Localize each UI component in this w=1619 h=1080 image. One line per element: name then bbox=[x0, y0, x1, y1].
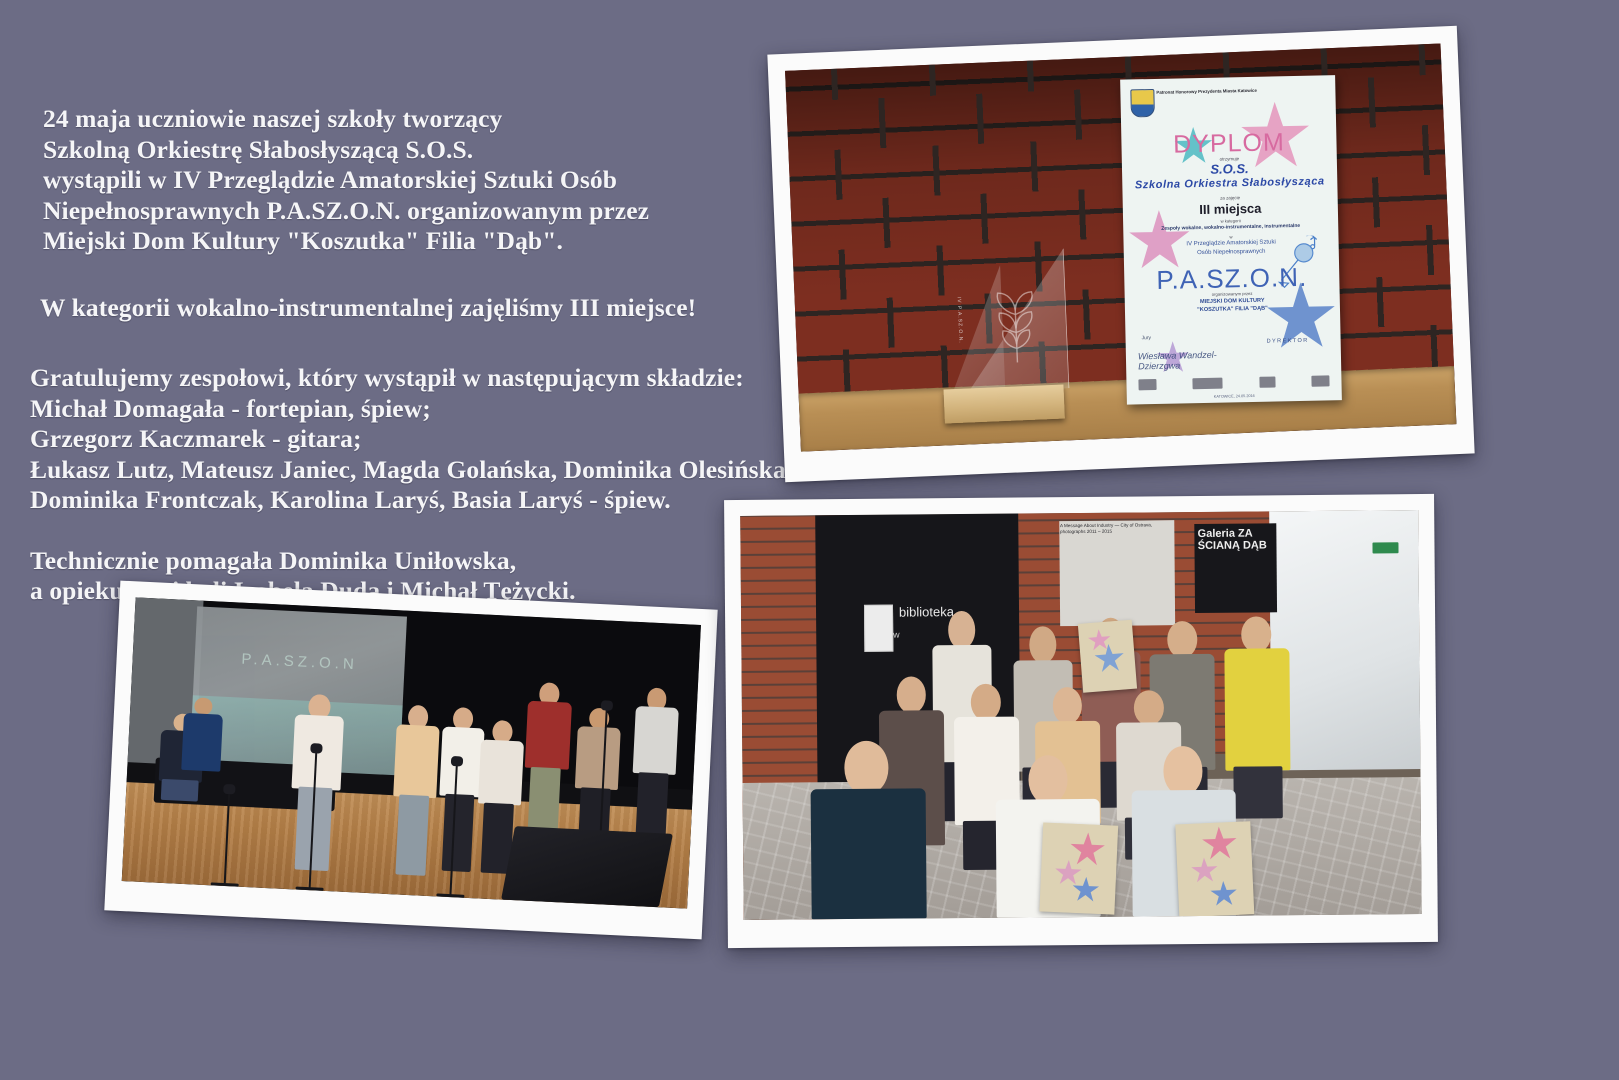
trophy-wooden-base bbox=[943, 385, 1064, 424]
spacer-1 bbox=[28, 257, 768, 293]
credits-line-4: Łukasz Lutz, Mateusz Janiec, Magda Golań… bbox=[30, 455, 768, 486]
certificate-art-3 bbox=[1175, 821, 1254, 917]
paragraph-highlight: W kategorii wokalno-instrumentalnej zaję… bbox=[40, 293, 768, 324]
photo-diploma-image: IV P.A.SZ.O.N. bbox=[785, 43, 1456, 451]
sponsor-logo-4 bbox=[1312, 375, 1330, 386]
gallery-banner: Galeria ZA ŚCIANĄ DĄB bbox=[1195, 523, 1277, 613]
exhibition-poster: A Message About Industry — City of Ostra… bbox=[1059, 520, 1175, 626]
photo-group-image: biblioteka w A Message About Industry — … bbox=[740, 510, 1421, 920]
door-label-small: w bbox=[893, 629, 900, 639]
performer-singer-7 bbox=[628, 687, 681, 848]
highlight-line-1: W kategorii wokalno-instrumentalnej zaję… bbox=[40, 293, 768, 324]
certificate-held-2 bbox=[1040, 823, 1118, 915]
city-crest-icon bbox=[1131, 89, 1156, 117]
exit-sign-icon bbox=[1372, 543, 1398, 554]
article-text: 24 maja uczniowie naszej szkoły tworzący… bbox=[28, 104, 768, 607]
poster-page: 24 maja uczniowie naszej szkoły tworzący… bbox=[0, 0, 1619, 1080]
photo-stage-frame[interactable]: P.A.SZ.O.N bbox=[104, 581, 717, 940]
intro-line-3: wystąpili w IV Przeglądzie Amatorskiej S… bbox=[43, 165, 768, 196]
group-person-front-1 bbox=[810, 741, 927, 920]
credits-line-5: Dominika Frontczak, Karolina Laryś, Basi… bbox=[30, 485, 768, 516]
exhibition-poster-text: A Message About Industry — City of Ostra… bbox=[1060, 522, 1173, 535]
photo-stage-image: P.A.SZ.O.N bbox=[122, 597, 701, 908]
sponsor-logo-1 bbox=[1139, 379, 1157, 390]
credits-line-1: Gratulujemy zespołowi, który wystąpił w … bbox=[30, 363, 768, 394]
intro-line-5: Miejski Dom Kultury "Koszutka" Filia "Dą… bbox=[43, 226, 768, 257]
performer-singer-5 bbox=[520, 682, 573, 843]
diploma-jury-label: Jury bbox=[1142, 335, 1152, 341]
certificate-held-1 bbox=[1078, 620, 1137, 693]
photo-group-frame[interactable]: biblioteka w A Message About Industry — … bbox=[724, 494, 1438, 948]
glass-trophy: IV P.A.SZ.O.N. bbox=[954, 248, 1070, 392]
spacer-2 bbox=[28, 323, 768, 363]
certificate-art-2 bbox=[1040, 823, 1118, 915]
paragraph-intro: 24 maja uczniowie naszej szkoły tworzący… bbox=[43, 104, 768, 257]
projection-screen-text: P.A.SZ.O.N bbox=[195, 649, 405, 676]
intro-line-4: Niepełnosprawnych P.A.SZ.O.N. organizowa… bbox=[43, 196, 768, 227]
crest-caption: Patronat Honorowy Prezydenta Miasta Kato… bbox=[1157, 87, 1277, 96]
trophy-leaf-engraving bbox=[981, 283, 1050, 366]
certificate-held-3 bbox=[1175, 821, 1254, 917]
performer-guitarist bbox=[178, 696, 227, 772]
credits-line-2: Michał Domagała - fortepian, śpiew; bbox=[30, 394, 768, 425]
intro-line-1: 24 maja uczniowie naszej szkoły tworzący bbox=[43, 104, 768, 135]
performer-singer-1 bbox=[287, 693, 346, 871]
diploma-sponsor-logos bbox=[1139, 372, 1330, 390]
certificate-art-1 bbox=[1078, 620, 1137, 693]
sponsor-logo-3 bbox=[1259, 376, 1275, 387]
credits-line-3: Grzegorz Kaczmarek - gitara; bbox=[30, 424, 768, 455]
paragraph-credits: Gratulujemy zespołowi, który wystąpił w … bbox=[30, 363, 768, 516]
diploma-place: III miejsca bbox=[1123, 199, 1338, 218]
diploma-document: Patronat Honorowy Prezydenta Miasta Kato… bbox=[1120, 75, 1342, 404]
sponsor-logo-2 bbox=[1193, 378, 1223, 390]
spacer-3 bbox=[28, 516, 768, 546]
intro-line-2: Szkolną Orkiestrę Słabosłyszącą S.O.S. bbox=[43, 135, 768, 166]
thanks-line-1: Technicznie pomagała Dominika Uniłowska, bbox=[30, 546, 768, 577]
photo-diploma-frame[interactable]: IV P.A.SZ.O.N. bbox=[767, 26, 1474, 483]
stage-monitor-speaker bbox=[501, 826, 673, 907]
door-notice-sign bbox=[864, 605, 893, 652]
diploma-date-place: KATOWICE, 24.05.2016 bbox=[1127, 392, 1342, 401]
gallery-banner-text: Galeria ZA ŚCIANĄ DĄB bbox=[1195, 523, 1277, 613]
diploma-signature: Wiesława Wandzel-Dzierzgwa bbox=[1138, 350, 1218, 374]
trophy-engraved-text: IV P.A.SZ.O.N. bbox=[955, 297, 963, 344]
